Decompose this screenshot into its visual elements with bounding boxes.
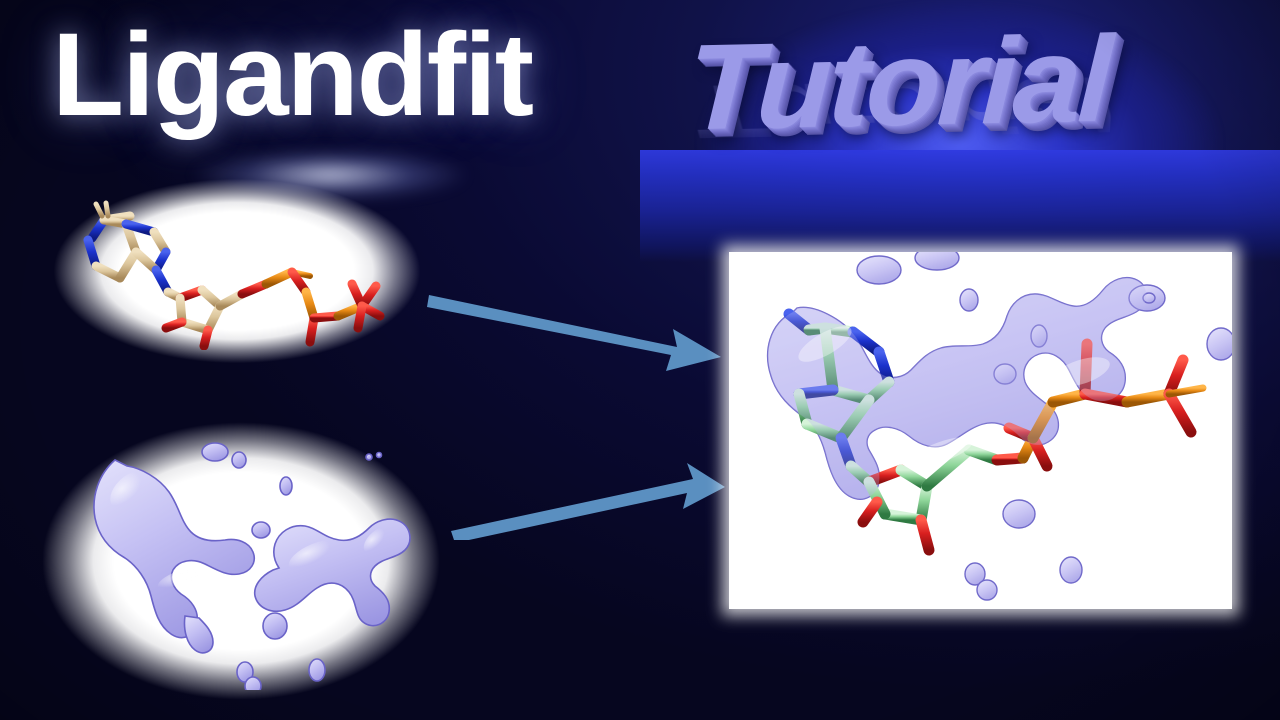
electron-density-map — [55, 430, 430, 690]
page-title: Ligandfit — [52, 16, 532, 134]
arrow-density-to-result — [447, 455, 727, 540]
slide-canvas: Tutorial Tutorial Ligandfit — [0, 0, 1280, 720]
arrow-ligand-to-result — [425, 285, 725, 380]
fitted-ligand-in-density — [729, 252, 1232, 609]
ligand-structure — [70, 190, 410, 350]
